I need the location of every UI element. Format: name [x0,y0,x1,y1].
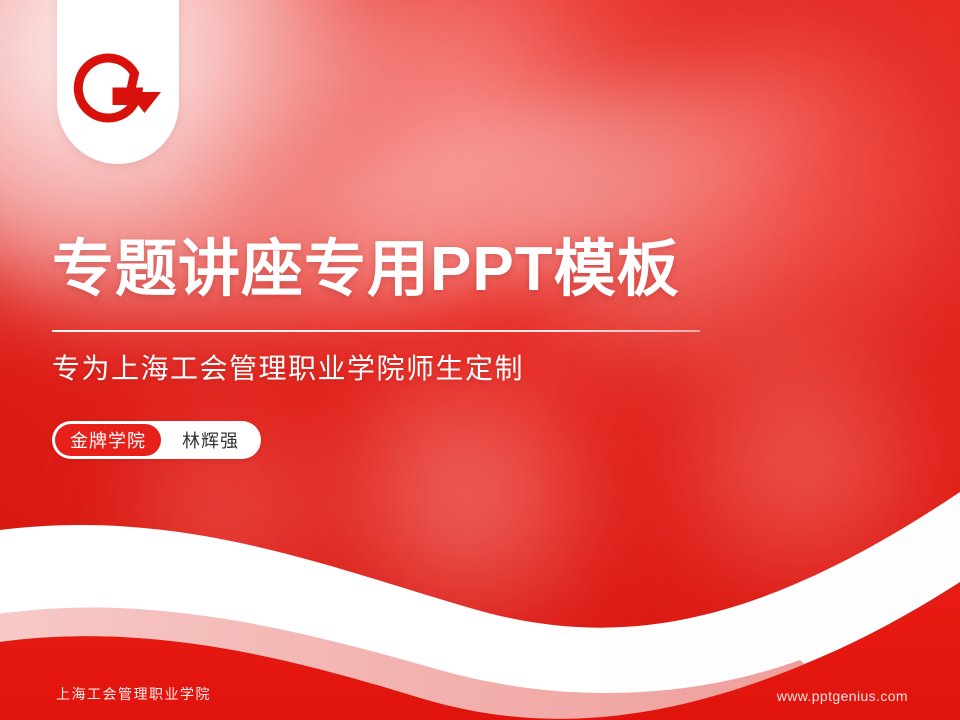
author-name: 林辉强 [164,427,239,453]
page-title: 专题讲座专用PPT模板 [52,238,680,301]
footer-website[interactable]: www.pptgenius.com [777,688,908,704]
page-subtitle: 专为上海工会管理职业学院师生定制 [52,350,524,388]
g-arrow-logo-icon [72,52,164,132]
credit-badge: 金牌学院 林辉强 [52,421,261,459]
footer-institution: 上海工会管理职业学院 [56,684,211,704]
status-badge: 金牌学院 [55,424,161,456]
title-divider [52,330,700,332]
logo-badge [57,0,179,164]
presentation-title-slide: 专题讲座专用PPT模板 专为上海工会管理职业学院师生定制 金牌学院 林辉强 [0,0,960,720]
